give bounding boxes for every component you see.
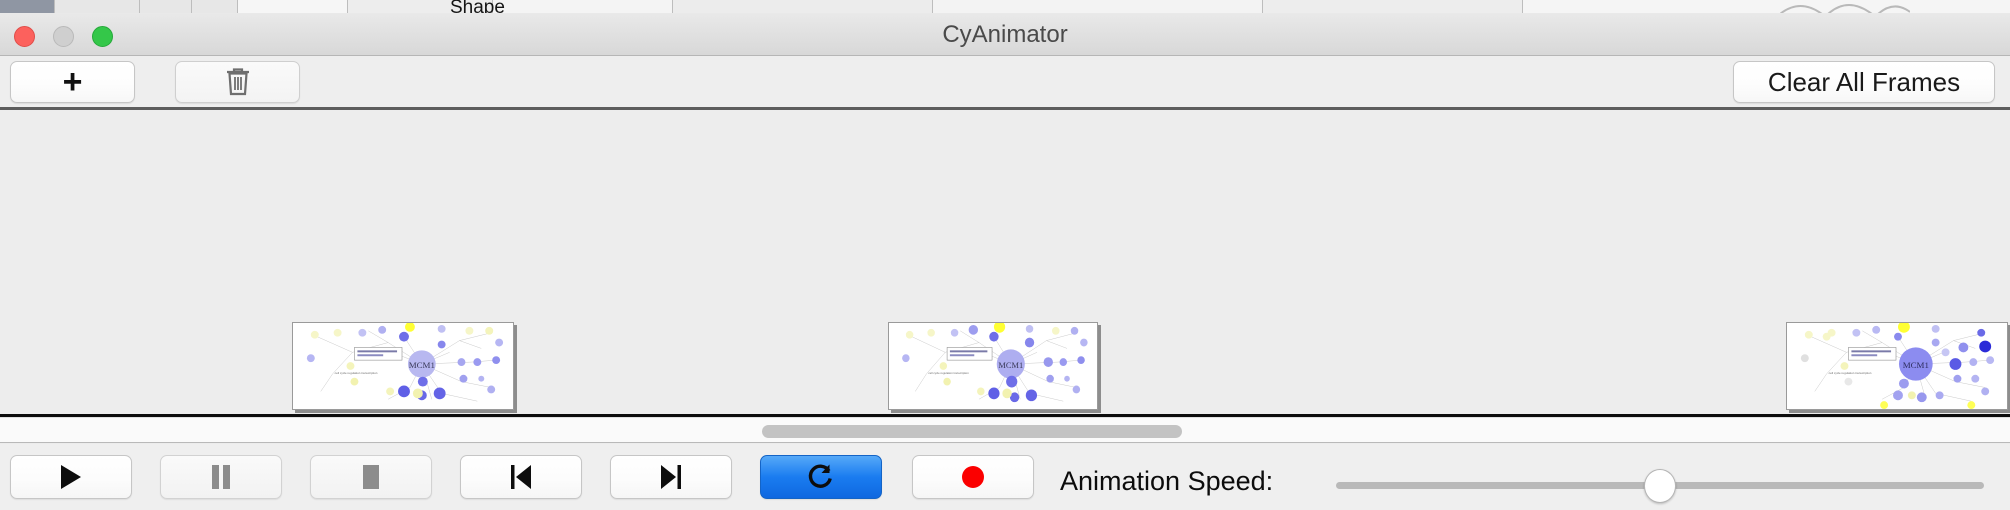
svg-text:cell cycle regulation transcri: cell cycle regulation transcription: [335, 371, 378, 375]
close-button[interactable]: [14, 26, 35, 47]
stop-icon: [359, 463, 383, 491]
play-icon: [58, 463, 84, 491]
window-controls: [14, 26, 113, 47]
bg-chunk: [933, 0, 1263, 14]
delete-frame-button[interactable]: [175, 61, 300, 103]
background-window-label: Shape: [450, 0, 505, 14]
bg-chunk: [140, 0, 192, 14]
bg-chunk: [0, 0, 55, 14]
network-thumbnail: MCM1: [889, 323, 1097, 409]
bg-chunk: [1523, 0, 2010, 14]
stop-button[interactable]: [310, 455, 432, 499]
skip-forward-icon: [658, 463, 684, 491]
scrollbar-thumb[interactable]: [762, 425, 1182, 438]
skip-end-button[interactable]: [610, 455, 732, 499]
background-desktop-strip: Shape: [0, 0, 2010, 14]
plus-icon: +: [63, 65, 83, 99]
network-thumbnail: MCM1: [1787, 323, 2007, 409]
clear-all-frames-button[interactable]: Clear All Frames: [1733, 61, 1995, 103]
timeline-frame-thumbnail[interactable]: MCM1: [292, 322, 514, 410]
loop-button[interactable]: [760, 455, 882, 499]
bg-chunk: [1263, 0, 1523, 14]
record-button[interactable]: [912, 455, 1034, 499]
cyanimator-window: Shape CyAnimator +: [0, 0, 2010, 510]
svg-text:MCM1: MCM1: [998, 360, 1023, 370]
pause-icon: [209, 463, 233, 491]
animation-speed-slider-thumb[interactable]: [1644, 469, 1676, 503]
bg-chunk: [192, 0, 238, 14]
minimize-button[interactable]: [53, 26, 74, 47]
frame-toolbar: + Clear All Frames: [0, 56, 2010, 108]
pause-button[interactable]: [160, 455, 282, 499]
add-frame-button[interactable]: +: [10, 61, 135, 103]
svg-text:cell cycle regulation transcri: cell cycle regulation transcription: [928, 371, 969, 375]
svg-text:MCM1: MCM1: [1903, 360, 1929, 370]
loop-icon: [807, 462, 835, 492]
zoom-button[interactable]: [92, 26, 113, 47]
skip-back-icon: [508, 463, 534, 491]
timeline-frame-thumbnail[interactable]: MCM1: [1786, 322, 2008, 410]
page-title: CyAnimator: [0, 13, 2010, 56]
svg-text:MCM1: MCM1: [409, 360, 435, 370]
skip-start-button[interactable]: [460, 455, 582, 499]
trash-icon: [225, 67, 251, 97]
timeline-frame-thumbnail[interactable]: MCM1: [888, 322, 1098, 410]
playback-controls-bar: Animation Speed:: [0, 444, 2010, 510]
bg-chunk: [673, 0, 933, 14]
bg-chunk: [493, 0, 673, 14]
background-curve-decoration: [1780, 0, 1910, 14]
play-button[interactable]: [10, 455, 132, 499]
window-title-bar: CyAnimator: [0, 13, 2010, 56]
timeline-scrollbar[interactable]: [0, 417, 2010, 443]
record-icon: [960, 464, 986, 490]
network-thumbnail: MCM1: [293, 323, 513, 409]
bg-chunk: [238, 0, 348, 14]
svg-text:cell cycle regulation transcri: cell cycle regulation transcription: [1829, 371, 1872, 375]
timeline-panel[interactable]: MCM1: [0, 110, 2010, 417]
bg-chunk: [55, 0, 140, 14]
clear-all-frames-label: Clear All Frames: [1768, 67, 1960, 98]
animation-speed-label: Animation Speed:: [1060, 466, 1273, 497]
